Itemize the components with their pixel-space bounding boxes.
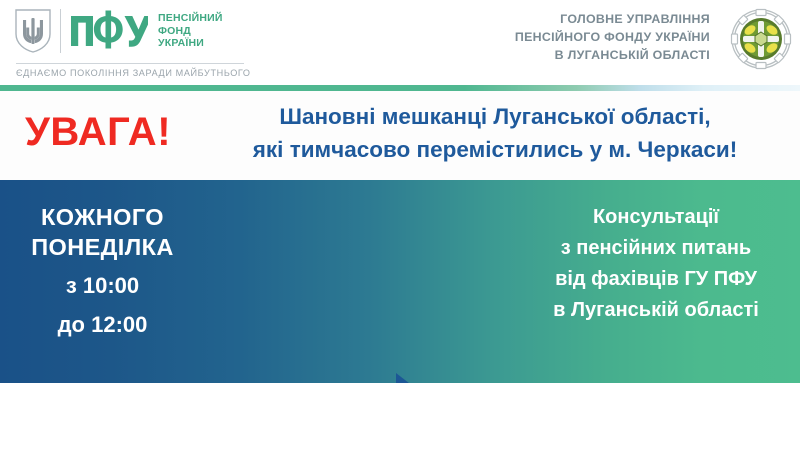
schedule-block: КОЖНОГО ПОНЕДІЛКА з 10:00 до 12:00: [0, 202, 205, 340]
attention-word: УВАГА!: [8, 109, 188, 155]
poster-header: ПЕНСІЙНИЙ ФОНД УКРАЇНИ ЄДНАЄМО ПОКОЛІННЯ…: [0, 0, 800, 85]
footer-whitespace: [0, 383, 800, 450]
service-line-2: з пенсійних питань: [512, 233, 800, 264]
pfu-name-line-1: ПЕНСІЙНИЙ: [158, 12, 223, 25]
pfu-name-line-2: ФОНД: [158, 25, 223, 38]
service-line-1: Консультації: [512, 202, 800, 233]
service-block: Консультації з пенсійних питань від фахі…: [512, 202, 800, 326]
attention-message-line-1: Шановні мешканці Луганської області,: [195, 100, 795, 133]
department-title: ГОЛОВНЕ УПРАВЛІННЯ ПЕНСІЙНОГО ФОНДУ УКРА…: [515, 10, 710, 64]
logo-slogan: ЄДНАЄМО ПОКОЛІННЯ ЗАРАДИ МАЙБУТНЬОГО: [16, 68, 256, 78]
schedule-time-to: до 12:00: [0, 309, 205, 340]
logo-row: ПЕНСІЙНИЙ ФОНД УКРАЇНИ: [14, 6, 264, 56]
ukraine-trident-shield-icon: [14, 8, 52, 54]
schedule-heading-line-2: ПОНЕДІЛКА: [0, 232, 205, 262]
main-gradient-panel: КОЖНОГО ПОНЕДІЛКА з 10:00 до 12:00 м. Че…: [0, 180, 800, 383]
department-line-3: В ЛУГАНСЬКІЙ ОБЛАСТІ: [515, 46, 710, 64]
schedule-heading-line-1: КОЖНОГО: [0, 202, 205, 232]
logo-divider: [60, 9, 61, 53]
pfu-logo: ПЕНСІЙНИЙ ФОНД УКРАЇНИ ЄДНАЄМО ПОКОЛІННЯ…: [14, 6, 264, 82]
attention-band: УВАГА! Шановні мешканці Луганської облас…: [0, 91, 800, 180]
pfu-monogram-icon: [70, 10, 148, 52]
department-line-2: ПЕНСІЙНОГО ФОНДУ УКРАЇНИ: [515, 28, 710, 46]
announcement-poster: ПЕНСІЙНИЙ ФОНД УКРАЇНИ ЄДНАЄМО ПОКОЛІННЯ…: [0, 0, 800, 450]
attention-message: Шановні мешканці Луганської області, які…: [195, 100, 795, 166]
attention-message-line-2: які тимчасово перемістились у м. Черкаси…: [195, 133, 795, 166]
service-line-3: від фахівців ГУ ПФУ: [512, 264, 800, 295]
logo-rule: [16, 63, 244, 64]
department-line-1: ГОЛОВНЕ УПРАВЛІННЯ: [515, 10, 710, 28]
right-arrow-icon: [250, 373, 512, 383]
pfu-name-line-3: УКРАЇНИ: [158, 37, 223, 50]
luhansk-region-emblem-icon: [730, 8, 792, 70]
service-line-4: в Луганській області: [512, 295, 800, 326]
pfu-fullname: ПЕНСІЙНИЙ ФОНД УКРАЇНИ: [158, 12, 223, 50]
schedule-time-from: з 10:00: [0, 270, 205, 301]
